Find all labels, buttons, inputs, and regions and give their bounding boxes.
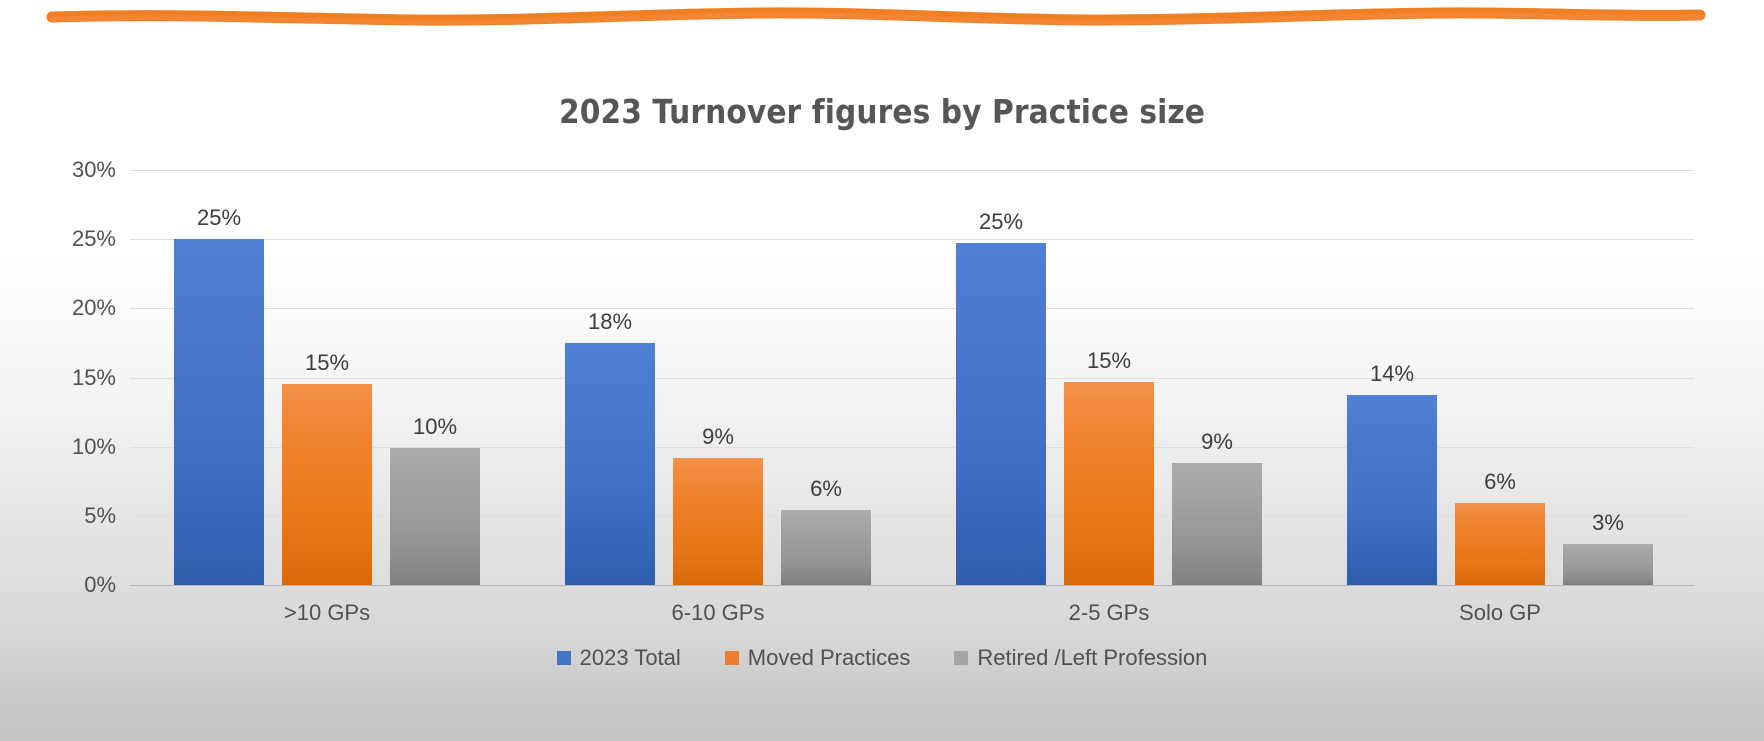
legend-swatch-icon (954, 651, 968, 665)
bar[interactable] (390, 448, 480, 585)
bar[interactable] (1455, 503, 1545, 585)
y-axis-tick-label: 0% (0, 572, 116, 598)
legend-swatch-icon (725, 651, 739, 665)
legend-item[interactable]: 2023 Total (557, 645, 681, 671)
bar-value-label: 14% (1323, 361, 1461, 387)
legend-swatch-icon (557, 651, 571, 665)
legend-label: Moved Practices (748, 645, 911, 671)
bar-value-label: 25% (932, 209, 1070, 235)
bar[interactable] (1172, 463, 1262, 585)
legend-item[interactable]: Retired /Left Profession (954, 645, 1207, 671)
bar[interactable] (1347, 395, 1437, 585)
x-axis-category-label: 2-5 GPs (949, 600, 1269, 626)
bar-group: 18%9%6% (521, 170, 912, 585)
bar-group: 25%15%10% (130, 170, 521, 585)
bar[interactable] (781, 510, 871, 585)
bar[interactable] (673, 458, 763, 585)
x-axis-category-label: 6-10 GPs (558, 600, 878, 626)
y-axis-tick-label: 5% (0, 503, 116, 529)
bar-value-label: 10% (366, 414, 504, 440)
chart-title: 2023 Turnover figures by Practice size (0, 92, 1764, 131)
bar-value-label: 25% (150, 205, 288, 231)
slide-canvas: 2023 Turnover figures by Practice size 3… (0, 0, 1764, 741)
bar-value-label: 9% (649, 424, 787, 450)
x-axis-category-label: >10 GPs (167, 600, 487, 626)
bars-layer: 25%15%10%18%9%6%25%15%9%14%6%3% (130, 170, 1694, 585)
bar[interactable] (174, 239, 264, 585)
bar[interactable] (565, 343, 655, 585)
bar-value-label: 6% (1431, 469, 1569, 495)
bar-value-label: 18% (541, 309, 679, 335)
bar[interactable] (1563, 544, 1653, 586)
x-axis-category-label: Solo GP (1340, 600, 1660, 626)
bar-value-label: 15% (1040, 348, 1178, 374)
y-axis-tick-label: 25% (0, 226, 116, 252)
bar-group: 14%6%3% (1303, 170, 1694, 585)
bar-value-label: 3% (1539, 510, 1677, 536)
bar-value-label: 15% (258, 350, 396, 376)
axis-baseline (130, 585, 1694, 586)
y-axis-tick-label: 30% (0, 157, 116, 183)
y-axis-tick-label: 20% (0, 295, 116, 321)
y-axis-tick-label: 10% (0, 434, 116, 460)
legend-item[interactable]: Moved Practices (725, 645, 911, 671)
bar-group: 25%15%9% (912, 170, 1303, 585)
y-axis-tick-label: 15% (0, 365, 116, 391)
bar[interactable] (1064, 382, 1154, 585)
legend-label: 2023 Total (580, 645, 681, 671)
bar[interactable] (956, 243, 1046, 585)
bar-value-label: 9% (1148, 429, 1286, 455)
legend-label: Retired /Left Profession (977, 645, 1207, 671)
chart-legend: 2023 TotalMoved PracticesRetired /Left P… (0, 645, 1764, 671)
orange-hand-drawn-rule-icon (0, 0, 1764, 46)
bar-value-label: 6% (757, 476, 895, 502)
bar[interactable] (282, 384, 372, 585)
